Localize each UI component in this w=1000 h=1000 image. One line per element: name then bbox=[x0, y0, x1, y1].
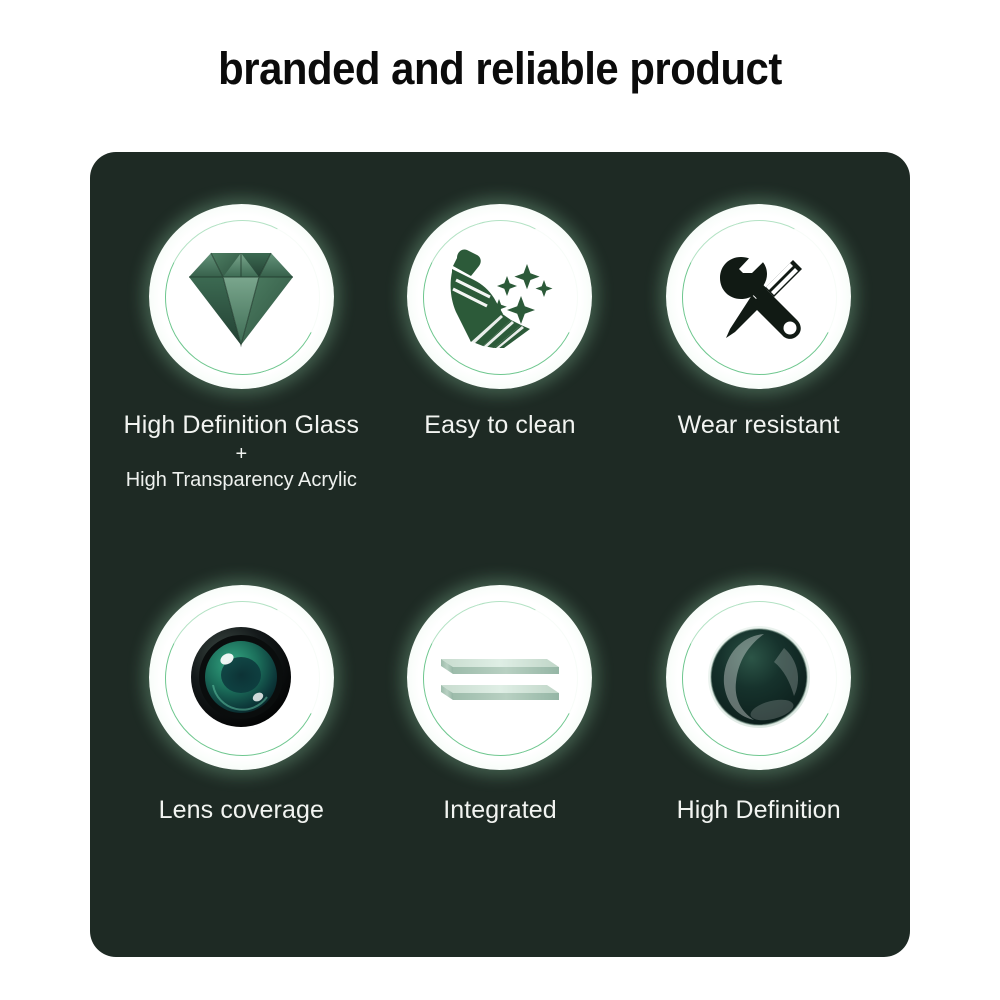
feature-panel: High Definition Glass + High Transparenc… bbox=[90, 152, 910, 957]
feature-icon-badge bbox=[407, 204, 592, 389]
feature-item-wear-resistant[interactable]: Wear resistant bbox=[629, 204, 888, 561]
broom-sparkle-icon bbox=[441, 242, 559, 352]
feature-label: Easy to clean bbox=[424, 411, 575, 440]
feature-grid: High Definition Glass + High Transparenc… bbox=[90, 152, 910, 957]
feature-label: High Definition bbox=[677, 796, 841, 825]
stacked-glass-layers-icon bbox=[435, 637, 565, 717]
diamond-icon bbox=[185, 245, 297, 349]
camera-lens-icon bbox=[189, 625, 293, 729]
feature-icon-badge bbox=[407, 585, 592, 770]
feature-label-plus: + bbox=[235, 442, 247, 467]
feature-item-high-definition-glass[interactable]: High Definition Glass + High Transparenc… bbox=[112, 204, 371, 561]
glass-sheet-upper bbox=[441, 659, 559, 674]
page-title: branded and reliable product bbox=[35, 44, 965, 94]
feature-icon-badge bbox=[149, 204, 334, 389]
product-feature-poster: branded and reliable product bbox=[0, 0, 1000, 1000]
glossy-sphere-icon bbox=[706, 624, 812, 730]
glass-sheet-lower bbox=[441, 685, 559, 700]
feature-label: Integrated bbox=[443, 796, 557, 825]
feature-label: Wear resistant bbox=[678, 411, 840, 440]
feature-item-integrated[interactable]: Integrated bbox=[371, 561, 630, 918]
feature-icon-badge bbox=[666, 585, 851, 770]
feature-label: Lens coverage bbox=[159, 796, 324, 825]
feature-sublabel: High Transparency Acrylic bbox=[126, 468, 357, 493]
feature-item-high-definition[interactable]: High Definition bbox=[629, 561, 888, 918]
feature-label: High Definition Glass bbox=[124, 411, 360, 440]
feature-item-lens-coverage[interactable]: Lens coverage bbox=[112, 561, 371, 918]
feature-item-easy-to-clean[interactable]: Easy to clean bbox=[371, 204, 630, 561]
wrench-screwdriver-icon bbox=[705, 243, 813, 351]
feature-icon-badge bbox=[666, 204, 851, 389]
feature-icon-badge bbox=[149, 585, 334, 770]
